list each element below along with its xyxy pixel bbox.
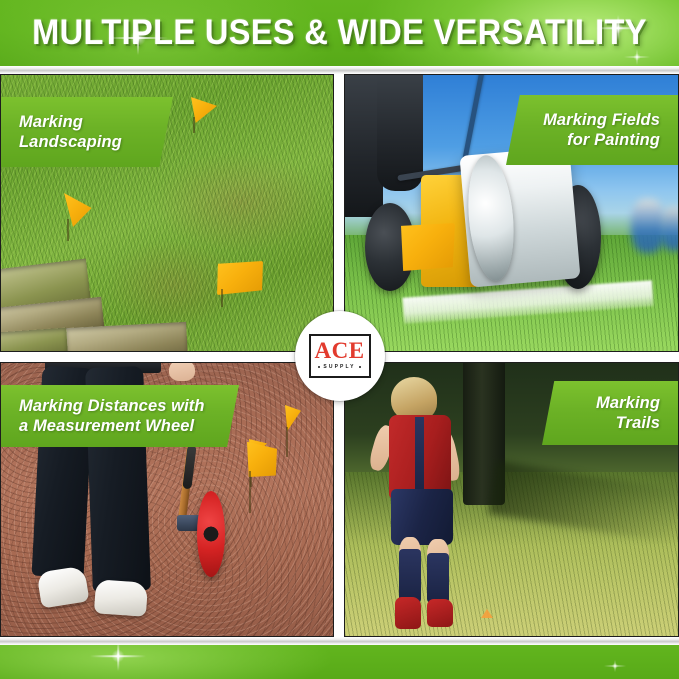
- brand-logo: ACE SUPPLY: [295, 311, 385, 401]
- panel-label-top-left: Marking Landscaping: [1, 97, 173, 167]
- shoe: [36, 565, 89, 608]
- footer-divider: [0, 637, 679, 645]
- panel-label-bottom-left: Marking Distances with a Measurement Whe…: [1, 385, 239, 447]
- panel-label-top-right: Marking Fields for Painting: [506, 95, 678, 165]
- page-title: MULTIPLE USES & WIDE VERSATILITY: [24, 13, 655, 53]
- hand: [169, 362, 195, 381]
- panel-label-bottom-right: Marking Trails: [542, 381, 678, 445]
- runner-sock: [427, 553, 449, 603]
- logo-dot-icon: [359, 366, 361, 368]
- panel-top-right: Marking Fields for Painting: [344, 74, 679, 352]
- panel-label-text: Marking Fields for Painting: [543, 110, 660, 150]
- runner-shoe: [427, 599, 453, 627]
- machine-handle: [462, 74, 484, 161]
- runner-shorts: [391, 489, 453, 545]
- sparkle-icon: [90, 645, 146, 679]
- trail-marker: [481, 609, 493, 618]
- panel-bottom-left: Marking Distances with a Measurement Whe…: [0, 362, 334, 637]
- runner-sock: [399, 549, 421, 603]
- background-figure: [631, 199, 665, 253]
- panel-label-text: Marking Landscaping: [19, 112, 122, 152]
- sparkle-icon: [604, 655, 626, 677]
- shoe: [94, 579, 148, 617]
- runner-shoe: [395, 597, 421, 629]
- marker-flag: [217, 261, 263, 295]
- runner-jersey-stripe: [415, 417, 424, 497]
- logo-tagline-text: SUPPLY: [323, 364, 355, 370]
- panel-label-text: Marking Distances with a Measurement Whe…: [19, 396, 205, 436]
- marker-flag: [64, 193, 94, 227]
- logo-dot-icon: [318, 366, 320, 368]
- panel-label-text: Marking Trails: [596, 393, 660, 433]
- background-figure: [661, 207, 679, 251]
- marker-flag: [285, 405, 301, 431]
- logo-brand-text: ACE: [314, 340, 364, 362]
- marker-flag: [247, 441, 277, 477]
- header-divider: [0, 66, 679, 74]
- measuring-wheel: [197, 491, 225, 577]
- wood-timber: [66, 322, 188, 352]
- marker-flag: [191, 97, 217, 123]
- logo-tagline-row: SUPPLY: [318, 364, 360, 370]
- panel-top-left: Marking Landscaping: [0, 74, 334, 352]
- wood-timber: [0, 328, 68, 352]
- marker-flag: [401, 223, 455, 271]
- panel-bottom-right: Marking Trails: [344, 362, 679, 637]
- product-infographic: MULTIPLE USES & WIDE VERSATILITY: [0, 0, 679, 679]
- logo-frame: ACE SUPPLY: [309, 334, 371, 378]
- header-banner: MULTIPLE USES & WIDE VERSATILITY: [0, 0, 679, 66]
- footer-banner: [0, 645, 679, 679]
